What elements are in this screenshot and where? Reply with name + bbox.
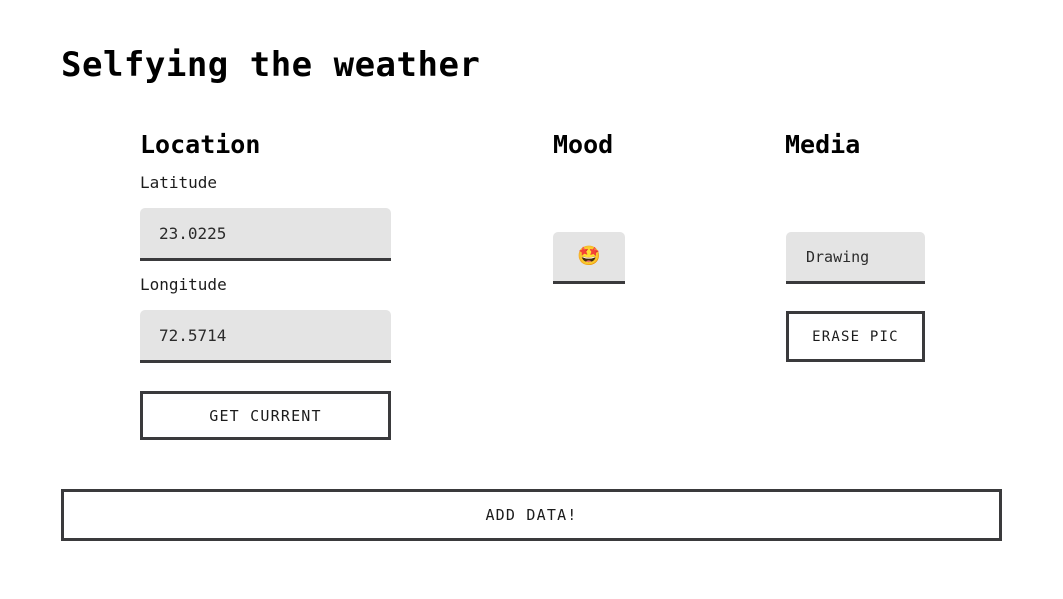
longitude-input[interactable]: 72.5714	[140, 310, 391, 363]
location-column-heading: Location	[140, 130, 260, 160]
longitude-label: Longitude	[140, 275, 227, 295]
media-column-heading: Media	[785, 130, 860, 160]
latitude-label: Latitude	[140, 173, 217, 193]
mood-select[interactable]: 🤩	[553, 232, 625, 284]
star-struck-face-emoji: 🤩	[577, 247, 601, 266]
media-select[interactable]: Drawing	[786, 232, 925, 284]
latitude-input[interactable]: 23.0225	[140, 208, 391, 261]
get-current-button[interactable]: GET CURRENT	[140, 391, 391, 440]
add-data-button[interactable]: ADD DATA!	[61, 489, 1002, 541]
page-title: Selfying the weather	[61, 45, 480, 85]
erase-pic-button[interactable]: ERASE PIC	[786, 311, 925, 362]
mood-column-heading: Mood	[553, 130, 613, 160]
